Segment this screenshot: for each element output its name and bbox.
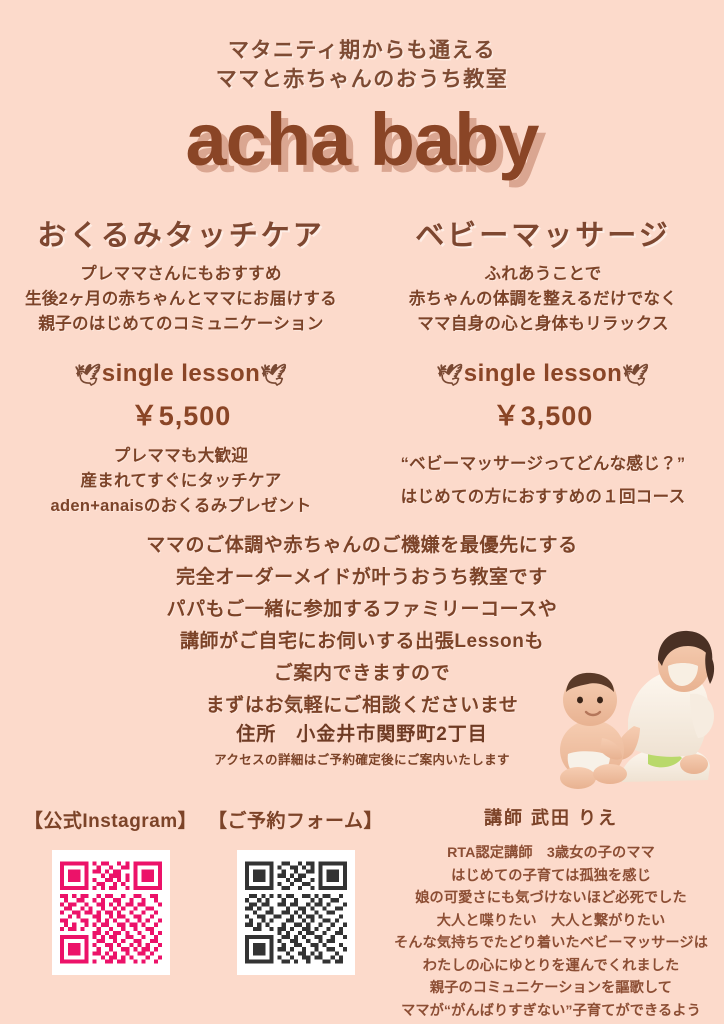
instagram-qr-code[interactable] <box>52 850 170 975</box>
lesson-label-row: 🕊single lesson🕊 <box>368 359 718 391</box>
lesson-label: single lesson <box>102 360 261 387</box>
dove-icon: 🕊 <box>437 364 464 387</box>
course-description-line: 生後2ヶ月の赤ちゃんとママにお届けする <box>6 287 356 312</box>
course-column-swaddle: おくるみタッチケア プレママさんにもおすすめ 生後2ヶ月の赤ちゃんとママにお届け… <box>0 218 362 519</box>
course-price: ￥3,500 <box>368 400 718 432</box>
course-note-line: aden+anaisのおくるみプレゼント <box>6 494 356 519</box>
bio-line: RTA認定講師 3歳女の子のママ <box>378 842 724 865</box>
instructor-bio-text: RTA認定講師 3歳女の子のママ はじめての子育ては孤独を感じ 娘の可愛さにも気… <box>378 842 724 1024</box>
course-description-line: プレママさんにもおすすめ <box>6 262 356 287</box>
bio-line: 親子のコミュニケーションを謳歌して <box>378 977 724 1000</box>
course-note: プレママも大歓迎 産まれてすぐにタッチケア aden+anaisのおくるみプレゼ… <box>6 444 356 519</box>
dove-icon: 🕊 <box>622 364 649 387</box>
course-description: ふれあうことで 赤ちゃんの体調を整えるだけでなく ママ自身の心と身体もリラックス <box>368 262 718 337</box>
course-note-line: はじめての方におすすめの１回コース <box>368 481 718 514</box>
course-description-line: 親子のはじめてのコミュニケーション <box>6 312 356 337</box>
course-price: ￥5,500 <box>6 400 356 432</box>
course-note-line: “ベビーマッサージってどんな感じ？” <box>368 448 718 481</box>
lead-line: ご案内できますので <box>0 658 724 690</box>
instructor-name: 講師 武田 りえ <box>378 806 724 830</box>
poster-root: マタニティ期からも通える ママと赤ちゃんのおうち教室 acha baby おくる… <box>0 0 724 1024</box>
brand-title: acha baby <box>0 100 724 180</box>
bio-line: そんな気持ちでたどり着いたベビーマッサージは <box>378 932 724 955</box>
course-title: ベビーマッサージ <box>368 218 718 254</box>
bio-line: はじめての子育ては孤独を感じ <box>378 865 724 888</box>
instructor-bio: 講師 武田 りえ RTA認定講師 3歳女の子のママ はじめての子育ては孤独を感じ… <box>378 806 724 1024</box>
lead-line: ママのご体調や赤ちゃんのご機嫌を最優先にする <box>0 530 724 562</box>
qr-codes-row <box>18 850 388 975</box>
instagram-qr-cell <box>18 850 203 975</box>
tagline-line-1: マタニティ期からも通える <box>0 36 724 65</box>
course-columns: おくるみタッチケア プレママさんにもおすすめ 生後2ヶ月の赤ちゃんとママにお届け… <box>0 218 724 519</box>
course-note-line: 産まれてすぐにタッチケア <box>6 469 356 494</box>
course-title: おくるみタッチケア <box>6 218 356 254</box>
lead-line: パパもご一緒に参加するファミリーコースや <box>0 594 724 626</box>
form-qr-cell <box>203 850 388 975</box>
dove-icon: 🕊 <box>75 364 102 387</box>
course-description: プレママさんにもおすすめ 生後2ヶ月の赤ちゃんとママにお届けする 親子のはじめて… <box>6 262 356 337</box>
qr-labels: 【公式Instagram】 【ご予約フォーム】 <box>18 806 388 833</box>
lead-paragraph: ママのご体調や赤ちゃんのご機嫌を最優先にする 完全オーダーメイドが叶うおうち教室… <box>0 530 724 722</box>
lesson-label-row: 🕊single lesson🕊 <box>6 359 356 391</box>
lesson-label: single lesson <box>464 360 623 387</box>
poster-header: マタニティ期からも通える ママと赤ちゃんのおうち教室 acha baby <box>0 36 724 180</box>
lead-line: 講師がご自宅にお伺いする出張Lessonも <box>0 626 724 658</box>
bio-line: 娘の可愛さにも気づけないほど必死でした <box>378 887 724 910</box>
address-note: アクセスの詳細はご予約確定後にご案内いたします <box>0 751 724 769</box>
reservation-form-qr-code[interactable] <box>237 850 355 975</box>
bio-line: 大人と喋りたい 大人と繋がりたい <box>378 910 724 933</box>
course-description-line: ママ自身の心と身体もリラックス <box>368 312 718 337</box>
course-description-line: 赤ちゃんの体調を整えるだけでなく <box>368 287 718 312</box>
bio-line: わたしの心にゆとりを運んでくれました <box>378 955 724 978</box>
form-qr-label: 【ご予約フォーム】 <box>203 806 388 833</box>
dove-icon: 🕊 <box>260 364 287 387</box>
tagline-line-2: ママと赤ちゃんのおうち教室 <box>0 65 724 94</box>
course-column-massage: ベビーマッサージ ふれあうことで 赤ちゃんの体調を整えるだけでなく ママ自身の心… <box>362 218 724 519</box>
instagram-qr-label: 【公式Instagram】 <box>18 806 203 833</box>
lead-line: まずはお気軽にご相談くださいませ <box>0 690 724 722</box>
bio-line: ママが“がんばりすぎない”子育てができるよう <box>378 1000 724 1023</box>
course-note-line: プレママも大歓迎 <box>6 444 356 469</box>
address-main: 住所 小金井市関野町2丁目 <box>0 722 724 748</box>
course-description-line: ふれあうことで <box>368 262 718 287</box>
course-note: “ベビーマッサージってどんな感じ？” はじめての方におすすめの１回コース <box>368 448 718 514</box>
lead-line: 完全オーダーメイドが叶うおうち教室です <box>0 562 724 594</box>
address-block: 住所 小金井市関野町2丁目 アクセスの詳細はご予約確定後にご案内いたします <box>0 722 724 769</box>
qr-section: 【公式Instagram】 【ご予約フォーム】 <box>18 806 388 975</box>
